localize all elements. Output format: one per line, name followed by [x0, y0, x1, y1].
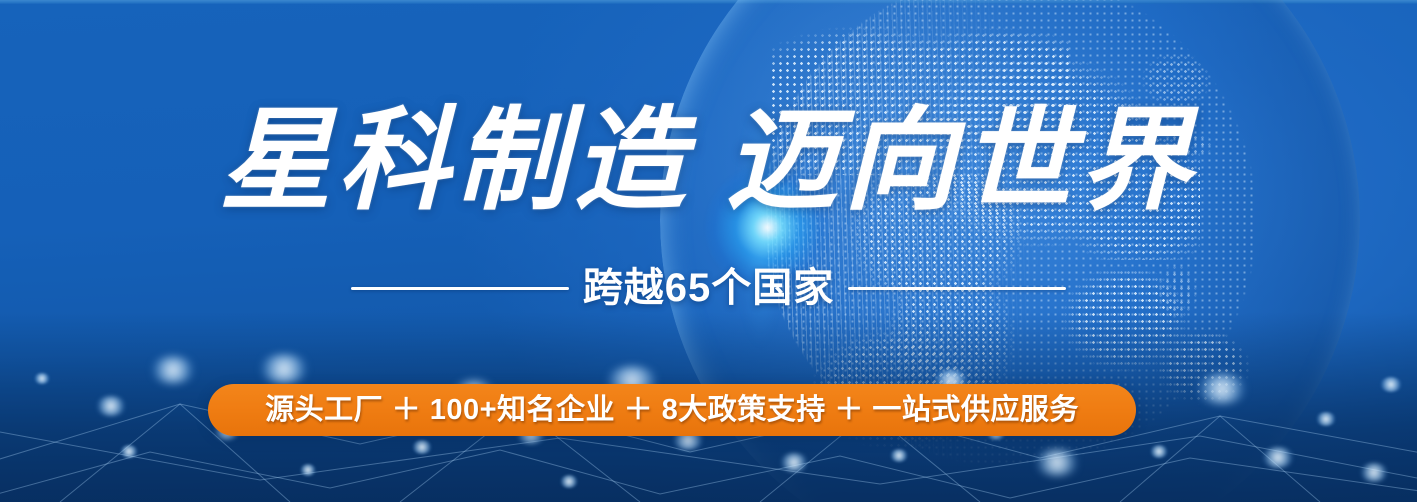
divider-line-right-icon	[848, 287, 1066, 290]
features-pill-banner[interactable]: 源头工厂 ＋ 100+知名企业 ＋ 8大政策支持 ＋ 一站式供应服务	[208, 384, 1136, 436]
bokeh-particle	[150, 356, 196, 384]
banner-subtitle-row: 跨越65个国家	[0, 268, 1417, 308]
bokeh-particle	[1034, 449, 1080, 476]
banner-headline: 星科制造迈向世界	[0, 104, 1417, 222]
bokeh-particle	[1150, 445, 1168, 458]
features-pill-text: 源头工厂 ＋ 100+知名企业 ＋ 8大政策支持 ＋ 一站式供应服务	[265, 396, 1079, 425]
bokeh-particle	[1360, 463, 1388, 482]
headline-part-1: 星科制造	[220, 100, 692, 224]
bokeh-particle	[1380, 377, 1402, 392]
bokeh-particle	[1262, 447, 1294, 468]
bokeh-particle	[890, 449, 908, 462]
bokeh-particle	[258, 354, 310, 384]
bokeh-particle	[1196, 374, 1248, 404]
bokeh-particle	[96, 396, 126, 416]
bokeh-particle	[1316, 412, 1336, 426]
bokeh-particle	[780, 453, 808, 472]
banner-subtitle: 跨越65个国家	[583, 268, 835, 308]
promotional-banner: 星科制造迈向世界 跨越65个国家 源头工厂 ＋ 100+知名企业 ＋ 8大政策支…	[0, 0, 1417, 502]
bokeh-particle	[412, 440, 432, 454]
bokeh-particle	[300, 464, 316, 476]
bokeh-particle	[560, 475, 578, 488]
bokeh-particle	[120, 445, 138, 458]
bokeh-particle	[34, 373, 50, 384]
divider-line-left-icon	[351, 287, 569, 290]
headline-part-2: 迈向世界	[726, 100, 1198, 224]
